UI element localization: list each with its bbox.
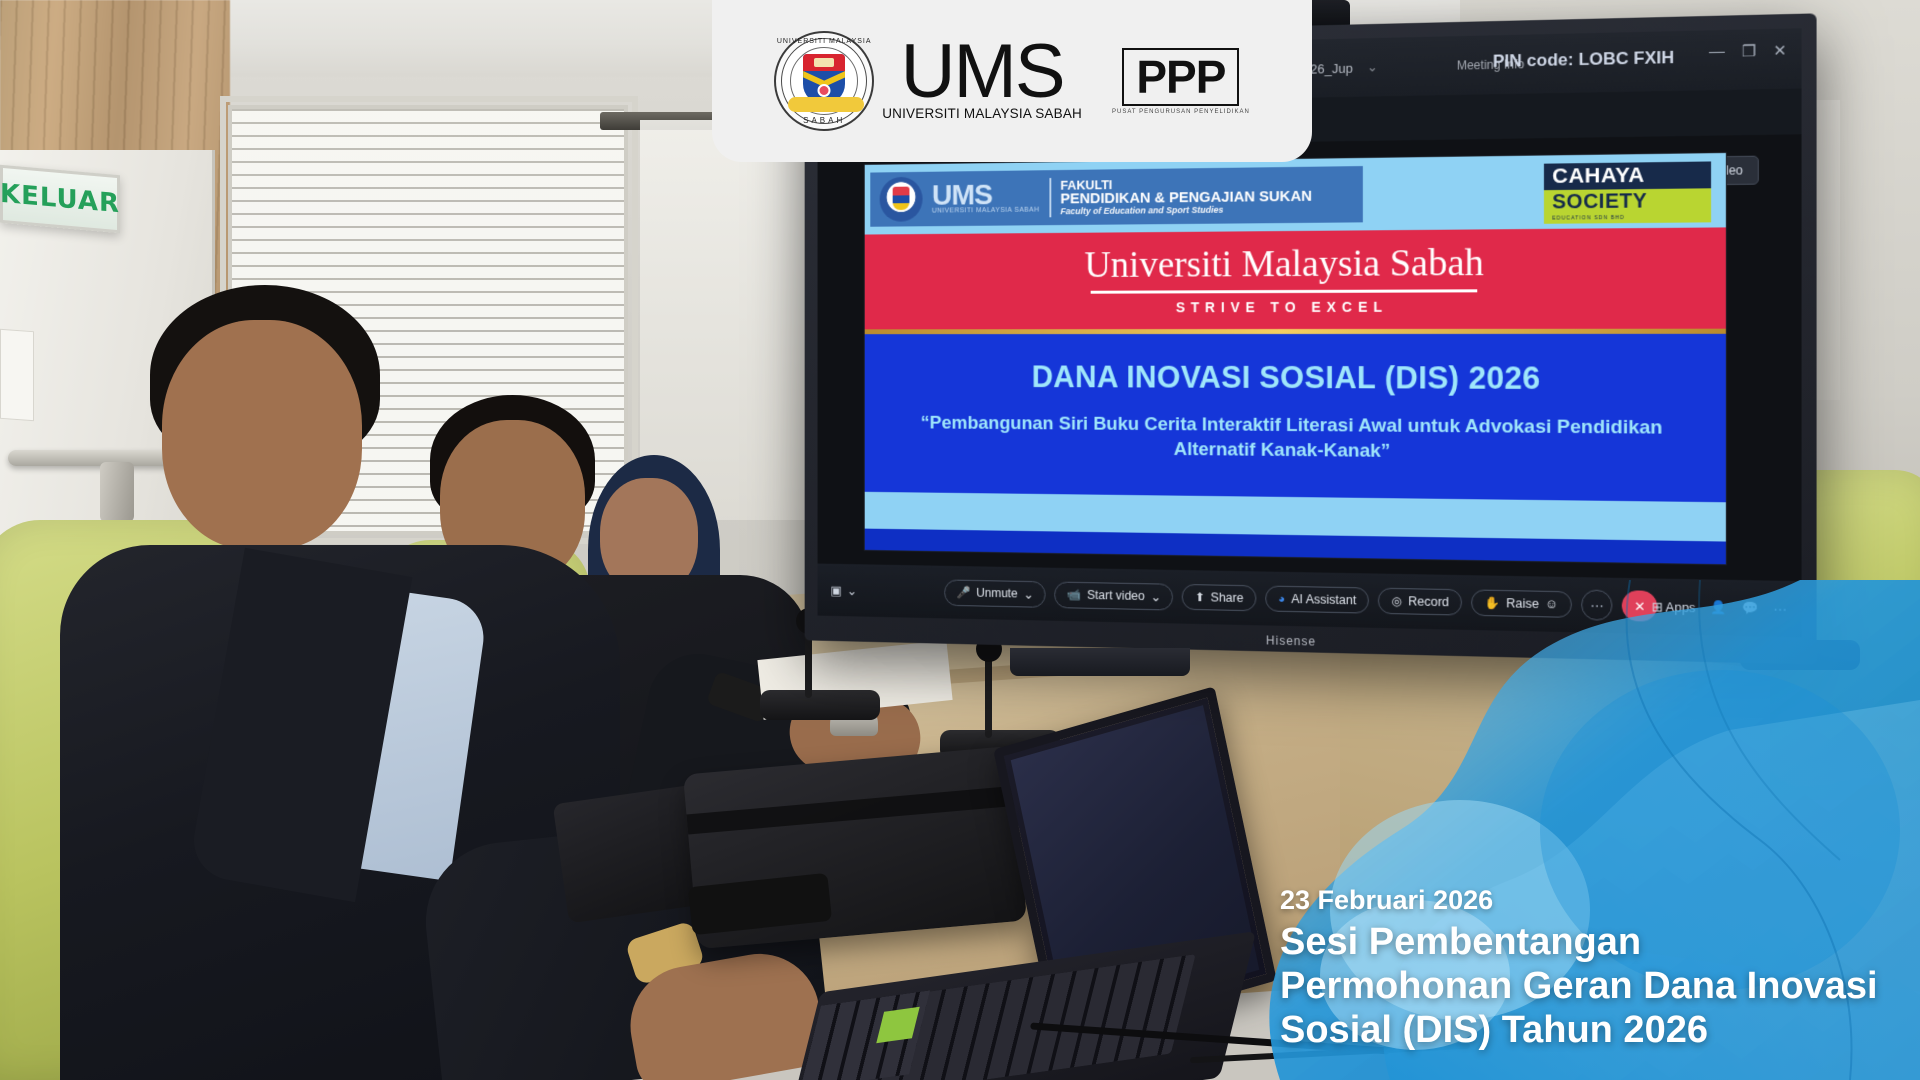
faculty-line-3: Faculty of Education and Sport Studies bbox=[1060, 204, 1311, 216]
ums-acronym: UMS bbox=[901, 41, 1064, 103]
ppp-acronym: PPP bbox=[1136, 51, 1225, 103]
shield-book-icon bbox=[814, 58, 834, 67]
microphone-stem-2 bbox=[985, 650, 992, 738]
ppp-caption: PUSAT PENGURUSAN PENYELIDIKAN bbox=[1112, 109, 1250, 115]
door-handle bbox=[100, 462, 134, 522]
microphone-icon: 🎤 bbox=[956, 586, 970, 600]
logo-header-overlay: UNIVERSITI MALAYSIA SABAH UMS UNIVERSITI… bbox=[712, 0, 1312, 162]
presentation-slide: UMS UNIVERSITI MALAYSIA SABAH FAKULTI PE… bbox=[864, 152, 1727, 565]
video-camera-icon: 📹 bbox=[1067, 588, 1081, 602]
event-title: Sesi Pembentangan Permohonan Geran Dana … bbox=[1280, 920, 1880, 1052]
exit-sign-label: KELUAR bbox=[0, 179, 120, 220]
partner-logo: CAHAYA SOCIETY EDUCATION SDN BHD bbox=[1544, 161, 1711, 223]
minimize-icon[interactable]: — bbox=[1709, 42, 1725, 61]
chevron-down-icon[interactable]: ⌄ bbox=[1023, 586, 1033, 601]
pin-code-label: PIN code: LOBC FXIH bbox=[1493, 48, 1674, 72]
bag-strap bbox=[686, 786, 1016, 835]
crest-scroll bbox=[788, 97, 864, 112]
divider-rule bbox=[1091, 289, 1478, 293]
start-video-label: Start video bbox=[1087, 588, 1145, 603]
unmute-label: Unmute bbox=[976, 586, 1018, 601]
slide-body: DANA INOVASI SOSIAL (DIS) 2026 “Pembangu… bbox=[865, 334, 1726, 503]
slide-header: UMS UNIVERSITI MALAYSIA SABAH FAKULTI PE… bbox=[865, 153, 1726, 235]
partner-line-1: CAHAYA bbox=[1544, 161, 1711, 190]
project-title: “Pembangunan Siri Buku Cerita Interaktif… bbox=[893, 412, 1695, 468]
maximize-icon[interactable]: ❐ bbox=[1742, 42, 1756, 61]
university-name: Universiti Malaysia Sabah bbox=[1084, 244, 1484, 284]
partner-line-3: EDUCATION SDN BHD bbox=[1544, 214, 1711, 224]
shield-rose bbox=[818, 84, 831, 97]
faculty-name: FAKULTI PENDIDIKAN & PENGAJIAN SUKAN Fac… bbox=[1060, 176, 1311, 216]
poster-image: KELUAR bbox=[0, 0, 1920, 1080]
ppp-box: PPP bbox=[1122, 48, 1239, 106]
crest-top-text: UNIVERSITI MALAYSIA bbox=[776, 38, 872, 45]
ums-wordmark: UMS UNIVERSITI MALAYSIA SABAH bbox=[882, 41, 1082, 121]
ums-crest-icon bbox=[880, 177, 923, 222]
ums-crest-icon: UNIVERSITI MALAYSIA SABAH bbox=[774, 31, 874, 131]
chevron-down-icon[interactable]: ⌄ bbox=[1367, 59, 1378, 75]
wall-notice bbox=[0, 329, 34, 421]
event-date: 23 Februari 2026 bbox=[1280, 885, 1880, 916]
slide-ums-acronym: UMS UNIVERSITI MALAYSIA SABAH bbox=[932, 181, 1039, 215]
fund-title: DANA INOVASI SOSIAL (DIS) 2026 bbox=[893, 359, 1695, 397]
close-icon[interactable]: ✕ bbox=[1773, 41, 1786, 60]
exit-sign: KELUAR bbox=[0, 165, 120, 233]
slide-university-banner: Universiti Malaysia Sabah STRIVE TO EXCE… bbox=[865, 227, 1726, 329]
slide-footer-bar bbox=[865, 529, 1726, 565]
university-motto: STRIVE TO EXCEL bbox=[1176, 299, 1388, 316]
microphone-base-1 bbox=[760, 690, 880, 720]
view-control[interactable]: ▣ ⌄ bbox=[830, 583, 856, 598]
faculty-banner: UMS UNIVERSITI MALAYSIA SABAH FAKULTI PE… bbox=[870, 166, 1363, 227]
view-icon: ▣ bbox=[830, 583, 841, 598]
window-controls[interactable]: — ❐ ✕ bbox=[1709, 41, 1787, 61]
ums-subtext: UNIVERSITI MALAYSIA SABAH bbox=[932, 208, 1039, 215]
start-video-button[interactable]: 📹 Start video ⌄ bbox=[1054, 581, 1173, 610]
view-caret-icon: ⌄ bbox=[847, 583, 857, 598]
ums-fullname: UNIVERSITI MALAYSIA SABAH bbox=[882, 106, 1082, 121]
crest-bottom-text: SABAH bbox=[776, 116, 872, 125]
divider bbox=[1049, 178, 1051, 217]
event-caption: 23 Februari 2026 Sesi Pembentangan Permo… bbox=[1280, 885, 1880, 1052]
partner-line-2: SOCIETY bbox=[1544, 188, 1711, 215]
unmute-button[interactable]: 🎤 Unmute ⌄ bbox=[944, 579, 1046, 607]
ppp-logo: PPP PUSAT PENGURUSAN PENYELIDIKAN bbox=[1112, 48, 1250, 115]
face bbox=[162, 320, 362, 550]
